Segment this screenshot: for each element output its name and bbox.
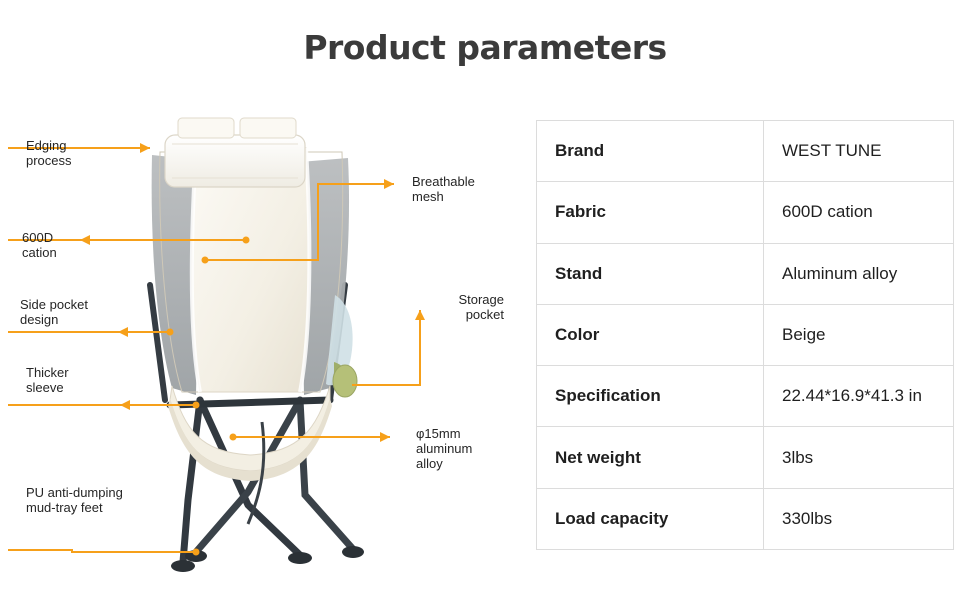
row-label: Specification [537, 366, 764, 427]
callout-pu-feet: PU anti-dumping mud-tray feet [26, 485, 123, 515]
table-row: Color Beige [537, 304, 954, 365]
row-label: Stand [537, 243, 764, 304]
table-row: Brand WEST TUNE [537, 121, 954, 182]
table-row: Load capacity 330lbs [537, 488, 954, 549]
row-value: 330lbs [764, 488, 954, 549]
row-value: Aluminum alloy [764, 243, 954, 304]
callout-storage-pocket: Storage pocket [434, 292, 504, 322]
headrest-pillow [165, 118, 305, 187]
row-label: Color [537, 304, 764, 365]
callout-side-pocket: Side pocket design [20, 297, 88, 327]
page-title: Product parameters [0, 28, 970, 67]
row-label: Brand [537, 121, 764, 182]
row-value: 3lbs [764, 427, 954, 488]
row-value: Beige [764, 304, 954, 365]
row-label: Net weight [537, 427, 764, 488]
callout-aluminum-alloy: φ15mm aluminum alloy [416, 426, 472, 471]
row-label: Load capacity [537, 488, 764, 549]
product-parameters-table: Brand WEST TUNE Fabric 600D cation Stand… [536, 120, 954, 550]
table-row: Fabric 600D cation [537, 182, 954, 243]
row-value: WEST TUNE [764, 121, 954, 182]
callout-edging-process: Edging process [26, 138, 72, 168]
chair-fabric [152, 148, 349, 481]
table-row: Specification 22.44*16.9*41.3 in [537, 366, 954, 427]
table-row: Stand Aluminum alloy [537, 243, 954, 304]
callout-thicker-sleeve: Thicker sleeve [26, 365, 69, 395]
callout-600d-cation: 600D cation [22, 230, 57, 260]
row-value: 22.44*16.9*41.3 in [764, 366, 954, 427]
product-illustration: Edging process 600D cation Side pocket d… [0, 100, 520, 580]
callout-breathable-mesh: Breathable mesh [412, 174, 475, 204]
row-label: Fabric [537, 182, 764, 243]
row-value: 600D cation [764, 182, 954, 243]
table-row: Net weight 3lbs [537, 427, 954, 488]
